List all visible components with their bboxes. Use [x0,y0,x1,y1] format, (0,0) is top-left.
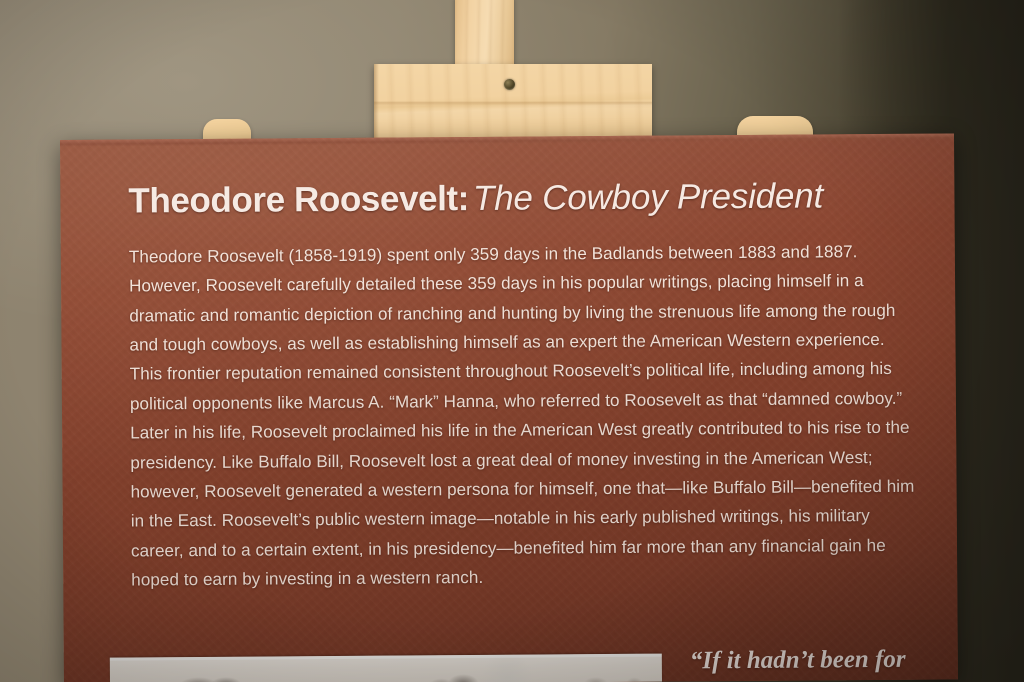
panel-title: Theodore Roosevelt:The Cowboy President [128,178,918,221]
panel-content: Theodore Roosevelt:The Cowboy President … [128,178,921,595]
panel-title-bold: Theodore Roosevelt: [128,179,469,220]
exhibit-panel: Theodore Roosevelt:The Cowboy President … [60,133,958,682]
panel-pull-quote: “If it hadn’t been for [690,646,906,676]
panel-title-italic: The Cowboy President [473,176,823,218]
panel-body-text: Theodore Roosevelt (1858-1919) spent onl… [129,236,922,595]
photo-content [110,654,662,682]
screenshot-root: Theodore Roosevelt:The Cowboy President … [0,0,1024,682]
historical-photograph [110,654,662,682]
screw-icon [504,79,515,90]
